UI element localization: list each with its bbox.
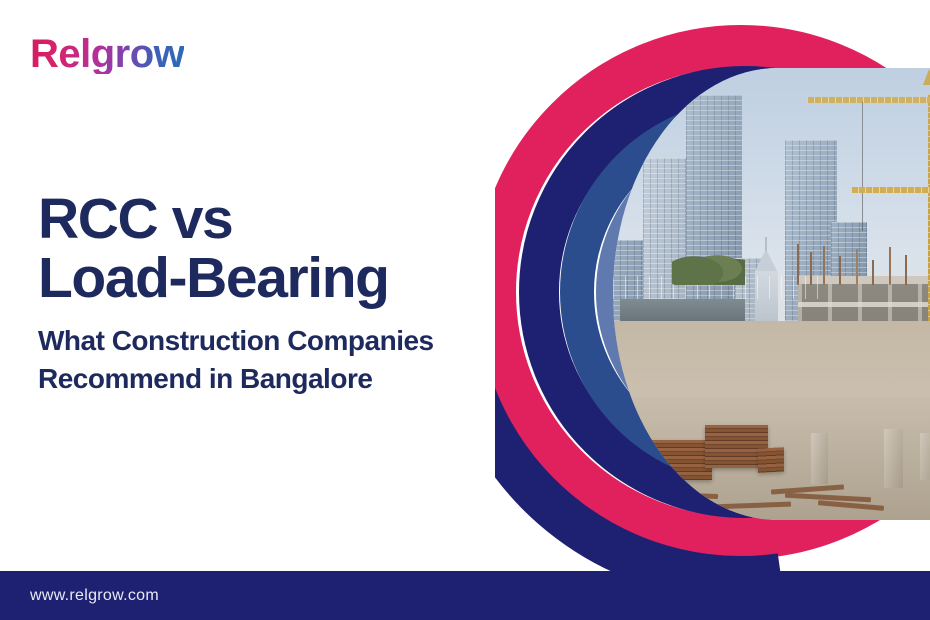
relgrow-logo[interactable]: Relgrow — [30, 34, 184, 74]
subheadline-line-1: What Construction Companies — [38, 322, 518, 360]
bangalore-construction-site-photo — [613, 68, 930, 520]
footer-bar: www.relgrow.com — [0, 571, 930, 620]
headline-line-2: Load-Bearing — [38, 249, 508, 308]
website-url[interactable]: www.relgrow.com — [30, 587, 159, 605]
headline-line-1: RCC vs — [38, 190, 508, 249]
subheadline-line-2: Recommend in Bangalore — [38, 360, 518, 398]
blog-banner: Relgrow RCC vs Load-Bearing What Constru… — [0, 0, 930, 620]
page-subtitle: What Construction Companies Recommend in… — [38, 322, 518, 398]
page-title: RCC vs Load-Bearing — [38, 190, 508, 309]
